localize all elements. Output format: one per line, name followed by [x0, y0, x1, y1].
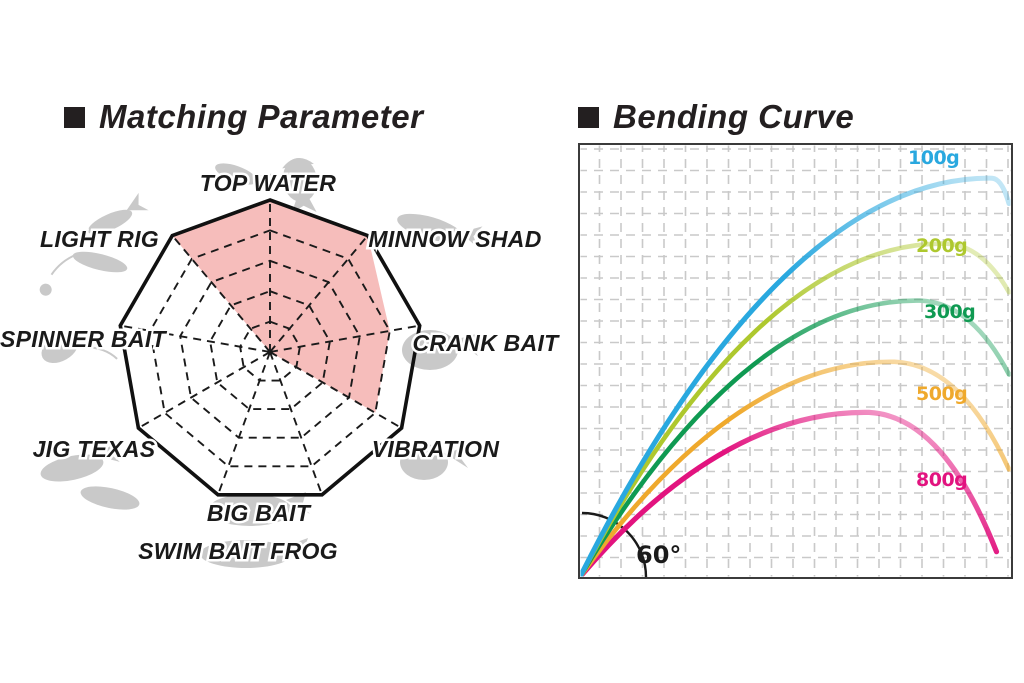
radar-axis-label-jig-texas: JIG TEXAS [14, 438, 174, 461]
poster-canvas: Matching Parameter Bending Curve [0, 0, 1024, 683]
square-bullet-icon [64, 107, 85, 128]
bending-curve-chart: 60° 100g 200g 300g 500g 800g [578, 143, 1013, 579]
radar-svg [0, 150, 560, 600]
radar-axis-label-minnow-shad: MINNOW SHAD [350, 228, 560, 251]
radar-axis-label-big-bait: BIG BAIT [196, 502, 321, 525]
radar-spoke [138, 352, 270, 428]
radar-axis-label-spinner-bait: SPINNER BAIT [0, 328, 130, 351]
curve-label-200g: 200g [916, 235, 967, 257]
square-bullet-icon [578, 107, 599, 128]
curve-label-100g: 100g [908, 147, 959, 169]
curve-label-500g: 500g [916, 383, 967, 405]
matching-parameter-radar-chart: TOP WATER MINNOW SHAD CRANK BAIT VIBRATI… [0, 150, 560, 600]
radar-axis-label-swim-bait-frog: SWIM BAIT FROG [118, 540, 358, 563]
section-title-matching-parameter: Matching Parameter [64, 98, 423, 136]
bending-curve-svg [578, 143, 1013, 579]
curve-200g [580, 244, 1009, 577]
section-title-bending-curve: Bending Curve [578, 98, 854, 136]
radar-axis-label-top-water: TOP WATER [188, 172, 348, 195]
matching-parameter-title-text: Matching Parameter [99, 98, 423, 136]
curve-label-300g: 300g [924, 301, 975, 323]
angle-label-60-degrees: 60° [636, 541, 681, 569]
radar-spoke [218, 352, 270, 495]
radar-axis-label-crank-bait: CRANK BAIT [398, 332, 573, 355]
bending-curve-title-text: Bending Curve [613, 98, 854, 136]
radar-axis-label-vibration: VIBRATION [358, 438, 513, 461]
curve-label-800g: 800g [916, 469, 967, 491]
radar-axis-label-light-rig: LIGHT RIG [22, 228, 177, 251]
